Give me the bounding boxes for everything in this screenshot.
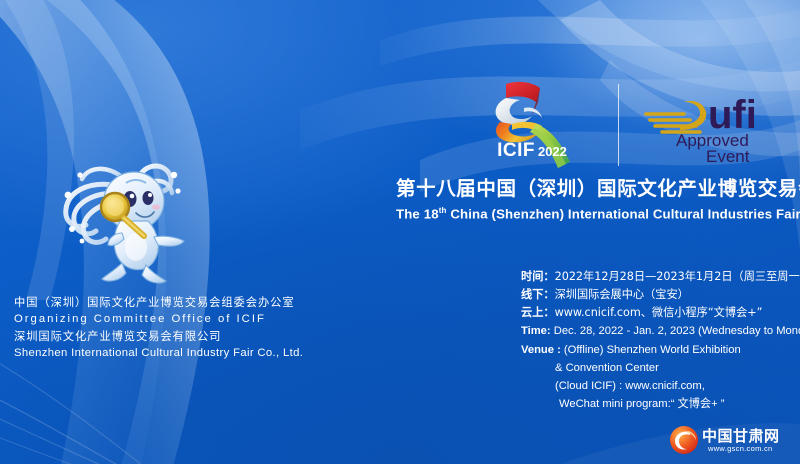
- info-time-label: 时间：: [521, 270, 555, 283]
- info-time-value: 2022年12月28日—2023年1月2日（周三至周一）: [555, 270, 800, 283]
- title-en-prefix: The 18: [396, 207, 439, 222]
- logo-row: ICIF2022 ufi Approved Event: [470, 78, 790, 170]
- info-time-en: Time: Dec. 28, 2022 - Jan. 2, 2023 (Wedn…: [521, 322, 797, 340]
- info-offline-cn: 线下：深圳国际会展中心（宝安）: [521, 286, 797, 304]
- page-title-english: The 18th China (Shenzhen) International …: [396, 206, 792, 221]
- ufi-event-text: Event: [706, 147, 750, 164]
- info-cloud-label: 云上：: [521, 306, 555, 319]
- info-venue-en-line2: & Convention Center: [521, 359, 797, 377]
- title-en-superscript: th: [439, 206, 447, 215]
- event-info-block: 时间：2022年12月28日—2023年1月2日（周三至周一） 线下：深圳国际会…: [521, 268, 797, 413]
- info-venue-en: Venue : (Offline) Shenzhen World Exhibit…: [521, 341, 797, 359]
- info-venue-en-label: Venue :: [521, 344, 561, 356]
- organizer-block: 中国（深圳）国际文化产业博览交易会组委会办公室 Organizing Commi…: [14, 294, 304, 363]
- organizer-cn-line-1: 中国（深圳）国际文化产业博览交易会组委会办公室: [14, 294, 304, 311]
- info-offline-label: 线下：: [521, 288, 555, 301]
- logo-divider: [618, 84, 619, 166]
- icif-year: 2022: [538, 144, 567, 159]
- organizer-en-line-2: Shenzhen International Cultural Industry…: [14, 345, 304, 362]
- organizer-en-line-1: Organizing Committee Office of ICIF: [14, 311, 304, 328]
- info-venue-en-value: (Offline) Shenzhen World Exhibition: [561, 344, 741, 356]
- info-venue-en-line4: WeChat mini program:“ 文博会+ ”: [521, 395, 797, 413]
- site-watermark: 中国甘肃网 www.gscn.com.cn: [668, 424, 792, 458]
- organizer-cn-line-2: 深圳国际文化产业博览交易会有限公司: [14, 328, 304, 345]
- info-time-en-value: Dec. 28, 2022 - Jan. 2, 2023 (Wednesday …: [551, 325, 800, 337]
- title-block: 第十八届中国（深圳）国际文化产业博览交易会 The 18th China (Sh…: [396, 178, 792, 222]
- info-offline-value: 深圳国际会展中心（宝安）: [555, 288, 689, 301]
- info-venue-en-line3: (Cloud ICIF) : www.cnicif.com,: [521, 377, 797, 395]
- icif-abbr: ICIF: [497, 140, 535, 161]
- info-time-en-label: Time:: [521, 325, 551, 337]
- watermark-url: www.gscn.com.cn: [708, 444, 773, 453]
- ufi-approved-event-logo: ufi Approved Event: [640, 84, 790, 164]
- info-time-cn: 时间：2022年12月28日—2023年1月2日（周三至周一）: [521, 268, 797, 286]
- info-cloud-value: www.cnicif.com、微信小程序“文博会+”: [555, 306, 763, 319]
- page-title-chinese: 第十八届中国（深圳）国际文化产业博览交易会: [396, 178, 792, 200]
- icif-mascot: [52, 155, 192, 285]
- watermark-text: 中国甘肃网: [702, 425, 780, 446]
- info-cloud-cn: 云上：www.cnicif.com、微信小程序“文博会+”: [521, 304, 797, 322]
- icif-poster: ICIF2022 ufi Approved Event 第十八届中国（深圳）国际…: [0, 0, 800, 464]
- icif-wordmark: ICIF2022: [472, 140, 592, 162]
- title-en-rest: China (Shenzhen) International Cultural …: [447, 207, 800, 222]
